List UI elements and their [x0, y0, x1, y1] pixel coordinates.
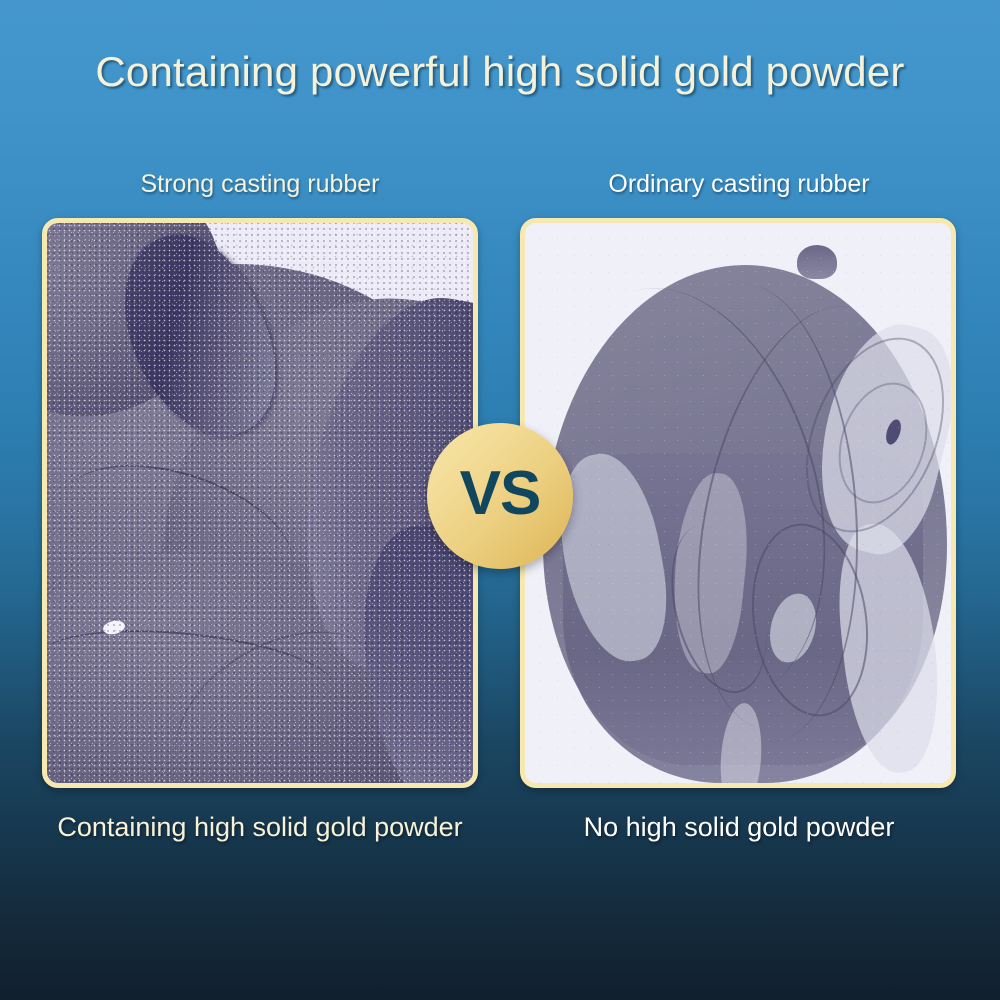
left-caption: Containing high solid gold powder — [42, 812, 478, 843]
ordinary-rubber-grain-texture — [525, 223, 951, 783]
right-product-photo — [525, 223, 951, 783]
right-product-image-panel — [520, 218, 956, 788]
left-column-heading: Strong casting rubber — [42, 170, 478, 199]
gold-powder-dark-grain-texture — [47, 223, 473, 783]
right-column-heading: Ordinary casting rubber — [520, 170, 958, 199]
page-title: Containing powerful high solid gold powd… — [0, 48, 1000, 96]
left-product-photo — [47, 223, 473, 783]
promo-poster: Containing powerful high solid gold powd… — [0, 0, 1000, 1000]
vs-badge: VS — [427, 423, 573, 569]
right-caption: No high solid gold powder — [520, 812, 958, 843]
vs-badge-label: VS — [460, 463, 541, 525]
left-product-image-panel — [42, 218, 478, 788]
